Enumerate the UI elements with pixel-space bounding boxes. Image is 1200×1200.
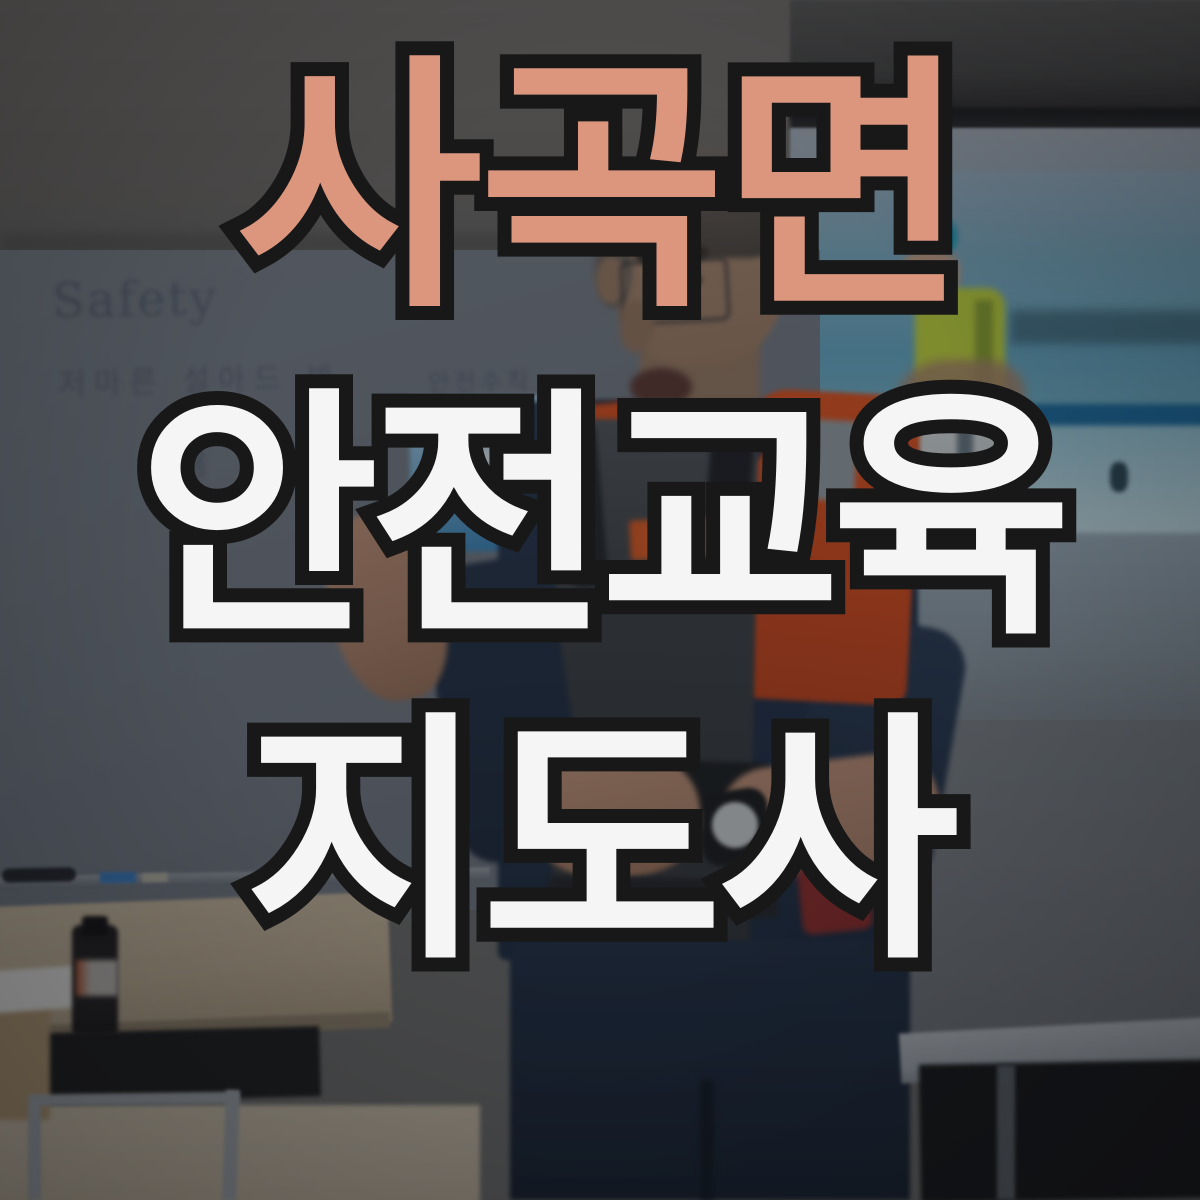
title-line-1: 사곡면 <box>236 58 964 321</box>
title-line-2: 안전교육 <box>138 391 1062 648</box>
title-overlay: 사곡면 안전교육 지도사 <box>0 0 1200 1200</box>
poster-canvas: Safety 저마른 설아드 봐 나욤 안전수칙 <box>0 0 1200 1200</box>
title-line-3: 지도사 <box>244 715 955 972</box>
